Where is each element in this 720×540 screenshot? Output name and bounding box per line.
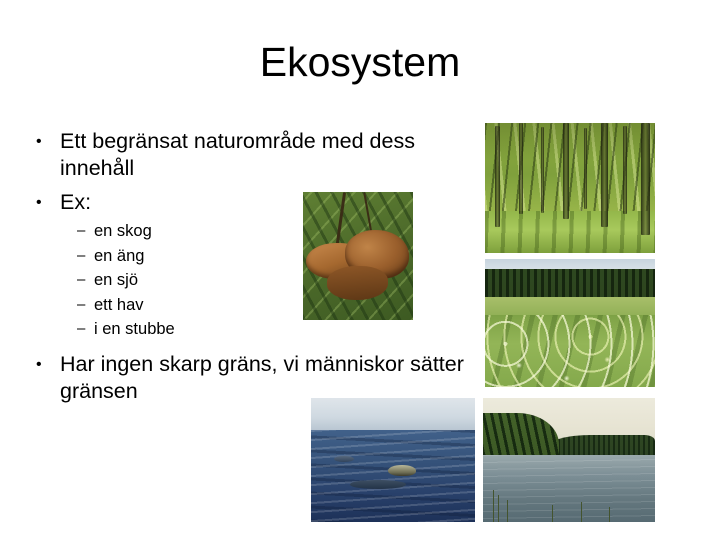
sea-rock [350, 480, 406, 489]
sub-bullet-item-3-label: en sjö [94, 268, 476, 293]
tree-trunk [641, 123, 650, 235]
forest-ground [485, 211, 655, 253]
tree-trunk [563, 123, 569, 219]
lake-photo [483, 398, 655, 522]
lake-far-treeline [548, 435, 655, 455]
reed [493, 490, 494, 522]
sub-bullet-item-1-label: en skog [94, 219, 476, 244]
sea-rock [388, 465, 416, 476]
bullet-marker-icon: • [36, 128, 60, 155]
reed [498, 495, 499, 522]
reed [581, 502, 582, 522]
reed [507, 500, 508, 522]
dash-marker-icon: – [77, 244, 94, 269]
bullet-item-3: • Har ingen skarp gräns, vi människor sä… [36, 351, 476, 405]
stump-photo [303, 192, 413, 320]
sub-bullet-item-2-label: en äng [94, 244, 476, 269]
dash-marker-icon: – [77, 317, 94, 342]
bullet-item-2-label: Ex: [60, 189, 476, 216]
page-title: Ekosystem [0, 38, 720, 86]
sub-bullet-item-5-label: i en stubbe [94, 317, 476, 342]
bullet-item-1-label: Ett begränsat naturområde med dess inneh… [60, 128, 476, 182]
tree-trunk [584, 128, 587, 209]
sub-bullet-item-2: – en äng [77, 244, 476, 269]
spacer [36, 182, 476, 189]
meadow-treeline [485, 269, 655, 300]
bullet-item-3-label: Har ingen skarp gräns, vi människor sätt… [60, 351, 476, 405]
forest-photo [485, 123, 655, 253]
tree-trunk [519, 123, 523, 214]
sea-water [311, 430, 475, 522]
sub-bullet-item-4: – ett hav [77, 293, 476, 318]
bullet-marker-icon: • [36, 189, 60, 216]
tree-trunk [495, 126, 500, 227]
sub-bullet-item-5: – i en stubbe [77, 317, 476, 342]
spacer [36, 342, 476, 351]
reed [609, 507, 610, 522]
sub-bullet-item-3: – en sjö [77, 268, 476, 293]
tree-trunk [623, 126, 627, 214]
sea-photo [311, 398, 475, 522]
sea-sky [311, 398, 475, 430]
dash-marker-icon: – [77, 268, 94, 293]
tree-trunk [601, 123, 608, 227]
meadow-flowering-field [485, 315, 655, 387]
tree-trunk [541, 127, 544, 213]
dash-marker-icon: – [77, 293, 94, 318]
forest-canopy [485, 123, 655, 217]
bracket-fungus [327, 266, 388, 299]
lake-water [483, 455, 655, 522]
sub-bullet-item-1: – en skog [77, 219, 476, 244]
presentation-slide: Ekosystem • Ett begränsat naturområde me… [0, 0, 720, 540]
reed [552, 505, 553, 522]
dash-marker-icon: – [77, 219, 94, 244]
meadow-photo [485, 259, 655, 387]
bullet-marker-icon: • [36, 351, 60, 378]
bullet-item-1: • Ett begränsat naturområde med dess inn… [36, 128, 476, 182]
sub-bullet-item-4-label: ett hav [94, 293, 476, 318]
